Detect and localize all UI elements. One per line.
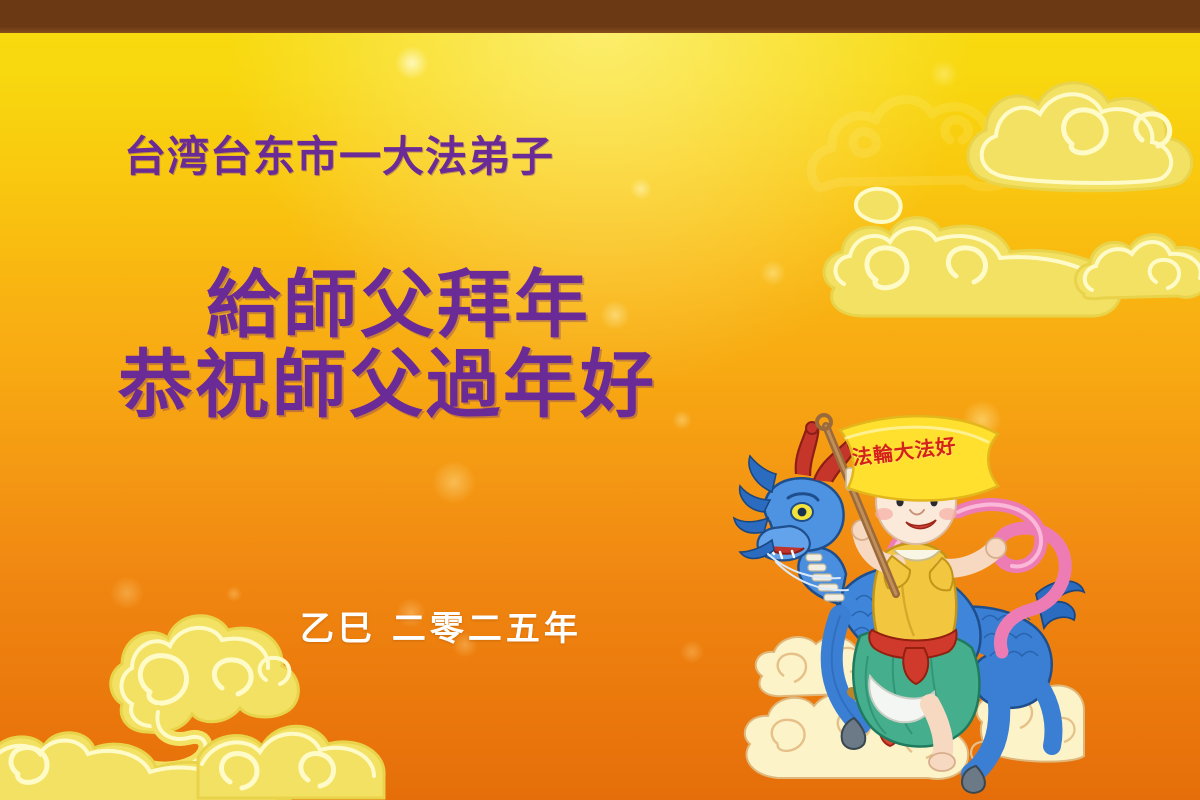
bokeh-glow	[395, 46, 429, 80]
meander-pattern	[0, 0, 1200, 29]
cloud-bottom-left	[52, 584, 312, 800]
cloud-right-small	[1068, 212, 1200, 322]
bokeh-glow	[672, 410, 692, 430]
bokeh-glow	[600, 300, 630, 330]
sender-line: 台湾台东市一大法弟子	[124, 136, 554, 178]
cloud-top-right-ghost	[800, 48, 1090, 218]
greeting-line-2: 恭祝師父過年好	[118, 348, 657, 422]
bokeh-glow	[226, 586, 242, 602]
date-line: 乙巳 二零二五年	[300, 612, 582, 646]
bokeh-glow	[432, 460, 476, 504]
bokeh-glow	[630, 178, 652, 200]
cloud-top-right-main	[960, 62, 1200, 212]
bokeh-glow	[930, 60, 958, 88]
bokeh-glow	[110, 576, 144, 610]
cloud-bottom-left-base	[0, 690, 290, 800]
cloud-bottom-left-right-lobe	[196, 690, 386, 800]
greek-key-border	[0, 0, 1200, 33]
bokeh-glow	[760, 260, 786, 286]
meander-bottom-rail	[0, 27, 1200, 33]
greeting-card: 台湾台东市一大法弟子 給師父拜年 恭祝師父過年好 乙巳 二零二五年	[0, 0, 1200, 800]
bokeh-glow	[680, 640, 704, 664]
meander-top-cap	[0, 0, 1200, 3]
greeting-line-1: 給師父拜年	[206, 268, 591, 342]
cloud-right-mid	[820, 160, 1150, 360]
